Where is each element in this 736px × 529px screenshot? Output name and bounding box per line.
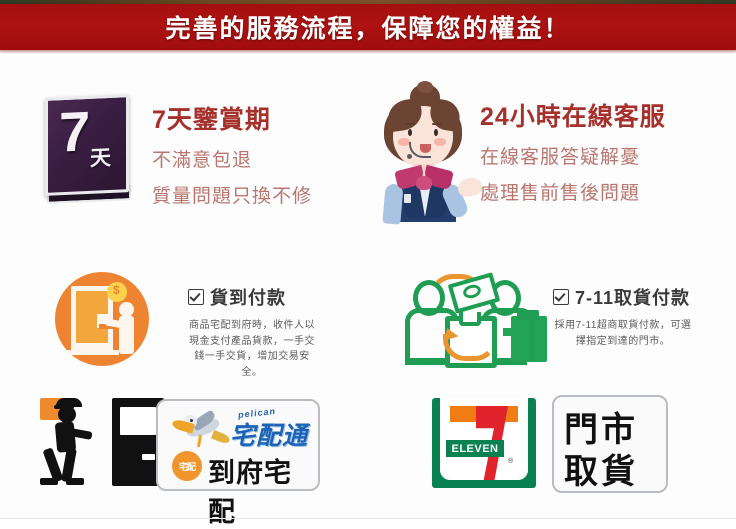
badge-number: 7 bbox=[59, 103, 90, 160]
trial-period-line-1: 不滿意包退 bbox=[152, 145, 312, 172]
customer-service-line-1: 在線客服答疑解憂 bbox=[480, 142, 666, 169]
trial-period-line-2: 質量問題只換不修 bbox=[152, 181, 312, 208]
cash-on-delivery-text: 貨到付款 商品宅配到府時，收件人以現金支付產品貨款，一手交錢一手交貨，增加交易安… bbox=[188, 284, 316, 380]
seven-eleven-wordmark: ELEVEN bbox=[446, 440, 504, 457]
store-pickup-label-box: 門市 取貨 bbox=[552, 395, 668, 493]
customer-service-title: 24小時在線客服 bbox=[480, 97, 666, 133]
customer-service-agent-icon bbox=[368, 84, 488, 216]
home-delivery-badge: 宅配 bbox=[172, 451, 202, 481]
pelican-home-delivery-logo: pelican 宅配通 宅配 到府宅配 bbox=[156, 399, 320, 491]
trial-period-title: 7天鑒賞期 bbox=[152, 100, 312, 136]
cash-on-delivery-title-row: 貨到付款 bbox=[188, 284, 316, 310]
seven-eleven-logo: ELEVEN ® bbox=[432, 398, 536, 488]
cash-on-delivery-body: 商品宅配到府時，收件人以現金支付產品貨款，一手交錢一手交貨，增加交易安全。 bbox=[188, 318, 316, 380]
registered-mark: ® bbox=[508, 458, 513, 465]
banner-title: 完善的服務流程，保障您的權益！ bbox=[165, 9, 570, 45]
customer-service-text: 24小時在線客服 在線客服答疑解憂 處理售前售後問題 bbox=[480, 97, 666, 205]
badge-unit: 天 bbox=[90, 148, 111, 170]
pelican-bird-icon bbox=[170, 409, 232, 451]
header-banner: 完善的服務流程，保障您的權益！ bbox=[0, 4, 736, 50]
store-pickup-body: 採用7-11超商取貨付款，可選擇指定到達的門市。 bbox=[553, 318, 693, 349]
delivery-person-icon bbox=[40, 398, 102, 484]
store-pickup-label-line-2: 取貨 bbox=[564, 444, 638, 493]
store-pickup-payment-icon bbox=[405, 272, 545, 382]
promo-page: 完善的服務流程，保障您的權益！ 7 天 7天鑒賞期 不滿意包退 質量問題只換不修 bbox=[0, 0, 736, 522]
trial-period-badge: 7 天 bbox=[45, 96, 129, 200]
store-pickup-title: 7-11取貨付款 bbox=[575, 284, 690, 310]
store-pickup-text: 7-11取貨付款 採用7-11超商取貨付款，可選擇指定到達的門市。 bbox=[553, 284, 693, 349]
cash-on-delivery-icon bbox=[55, 272, 149, 366]
pelican-brand-zh: 宅配通 bbox=[230, 416, 308, 452]
banner-shadow bbox=[0, 50, 736, 54]
checkbox-checked-icon bbox=[553, 289, 569, 305]
customer-service-line-2: 處理售前售後問題 bbox=[480, 178, 666, 205]
store-pickup-title-row: 7-11取貨付款 bbox=[553, 284, 693, 310]
bottom-divider bbox=[0, 518, 736, 519]
trial-period-text: 7天鑒賞期 不滿意包退 質量問題只換不修 bbox=[152, 100, 312, 208]
cash-on-delivery-title: 貨到付款 bbox=[210, 284, 286, 310]
checkbox-checked-icon bbox=[188, 289, 204, 305]
